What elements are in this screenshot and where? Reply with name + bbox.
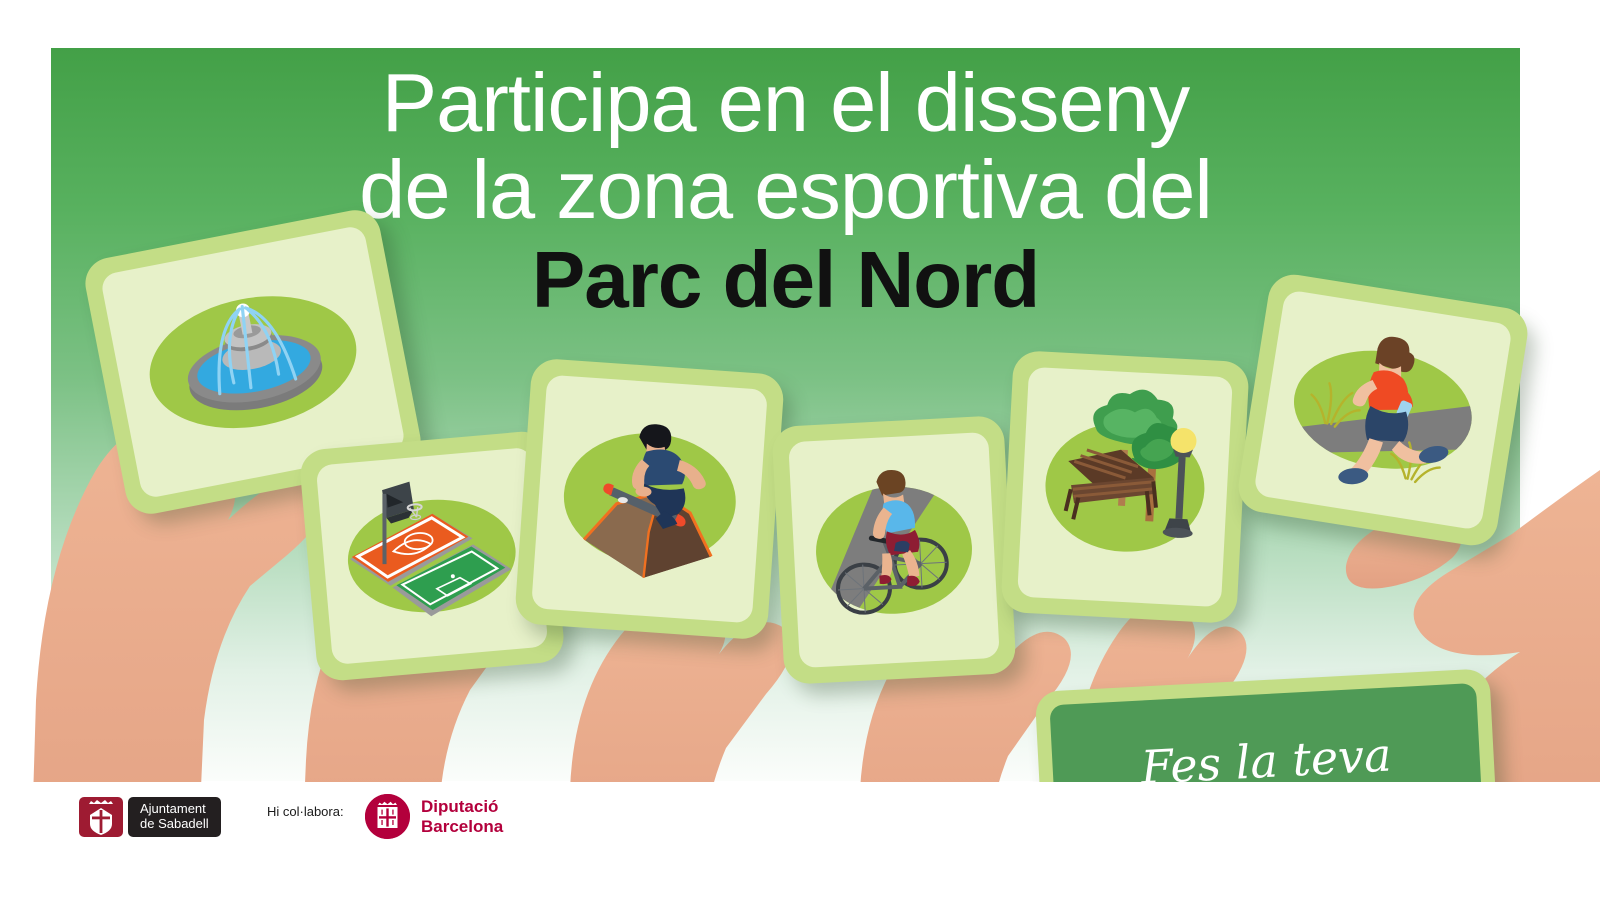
diputacio-line-2: Barcelona [421, 817, 503, 836]
ajuntament-line-2: de Sabadell [140, 817, 209, 832]
ajuntament-name-box: Ajuntament de Sabadell [128, 797, 221, 837]
card-sports-court-face [316, 447, 549, 665]
card-park-bench-face [1017, 367, 1233, 607]
diputacio-crest-icon [365, 794, 410, 839]
ajuntament-sabadell-logo[interactable]: Ajuntament de Sabadell [79, 797, 221, 837]
cyclist-icon [788, 432, 1000, 668]
runner-icon [1253, 289, 1513, 530]
card-cycling-face [788, 432, 1000, 668]
collaborates-label: Hi col·labora: [267, 804, 344, 819]
runner-figure-icon [1335, 331, 1467, 502]
card-running[interactable] [1235, 271, 1531, 549]
ajuntament-line-1: Ajuntament [140, 802, 209, 817]
diputacio-line-1: Diputació [421, 797, 503, 816]
card-cycling[interactable] [771, 415, 1016, 685]
card-skate-ramp[interactable] [514, 357, 785, 640]
card-skate-ramp-face [531, 375, 768, 624]
diputacio-name-text: Diputació Barcelona [421, 797, 503, 835]
card-running-face [1253, 289, 1513, 530]
park-scene-icon [1017, 367, 1233, 607]
sabadell-shield-icon [79, 797, 123, 837]
sports-court-icon [316, 447, 549, 665]
ramp-icon [582, 488, 716, 583]
diputacio-barcelona-logo[interactable]: Diputació Barcelona [365, 794, 503, 839]
poster-canvas: Participa en el disseny de la zona espor… [0, 0, 1600, 900]
card-park-bench[interactable] [1000, 350, 1249, 624]
skater-icon [531, 375, 768, 624]
footer-logos: Ajuntament de Sabadell Hi col·labora: [0, 782, 1600, 900]
